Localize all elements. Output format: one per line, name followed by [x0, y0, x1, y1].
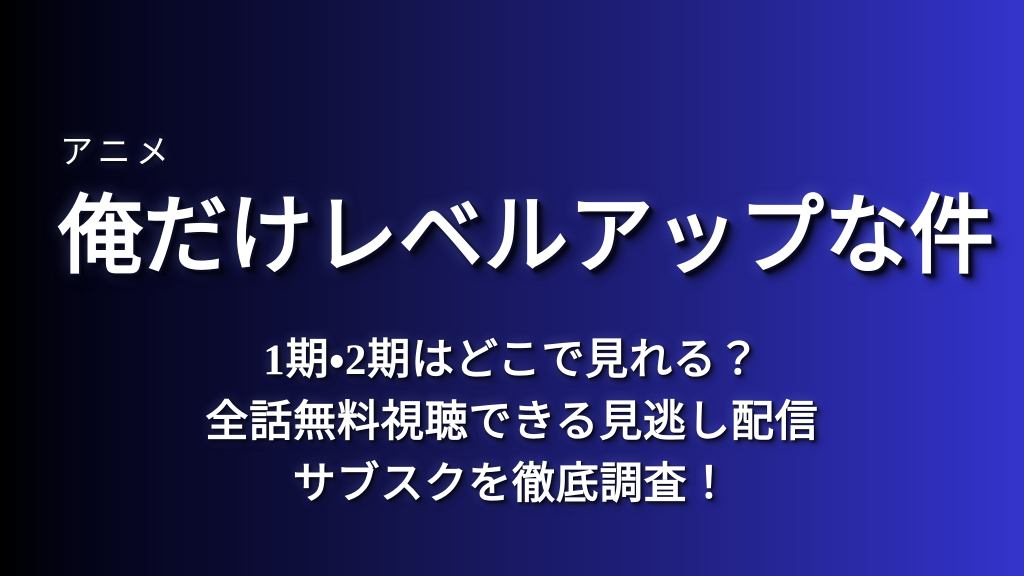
thumbnail-banner: アニメ 俺だけレベルアップな件 1期・2期はどこで見れる？ 全話無料視聴できる見… [0, 0, 1024, 576]
subheadline: 1期・2期はどこで見れる？ 全話無料視聴できる見逃し配信 サブスクを徹底調査！ [0, 330, 1024, 516]
page-title: 俺だけレベルアップな件 [58, 186, 964, 286]
subheadline-line-1: 1期・2期はどこで見れる？ [0, 330, 1024, 392]
subheadline-line-3: サブスクを徹底調査！ [0, 454, 1024, 516]
kicker-label: アニメ [60, 131, 174, 175]
subheadline-line-2: 全話無料視聴できる見逃し配信 [0, 392, 1024, 454]
